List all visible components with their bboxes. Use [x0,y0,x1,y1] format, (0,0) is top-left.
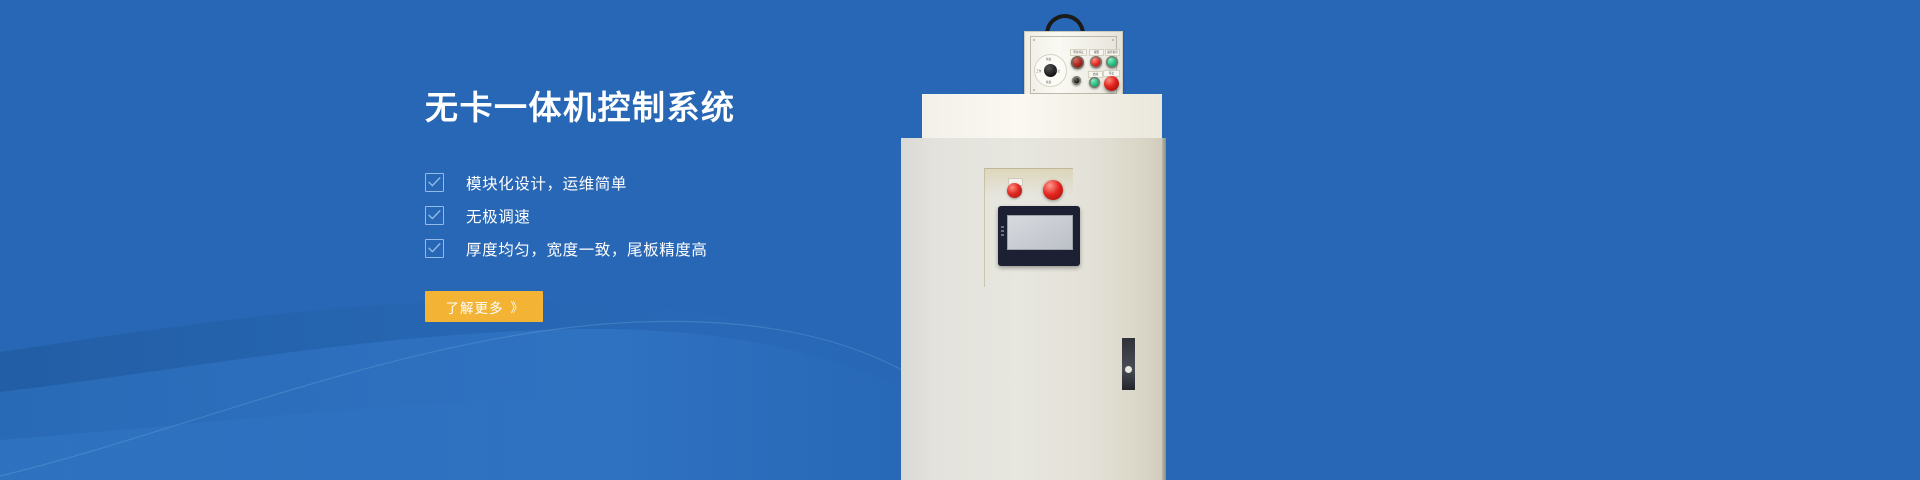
wave-band-soft [0,398,960,480]
list-item: 模块化设计，运维简单 [425,166,985,199]
panel-screw [1033,89,1035,91]
wave-band-light [0,329,1040,480]
rotary-selector-switch[interactable]: 快进 工作 停止 快退 [1034,54,1067,87]
selector-label-right: 停止 [1055,69,1060,73]
list-item: 厚度均匀，宽度一致，尾板精度高 [425,232,985,265]
hmi-status-leds-icon [1001,226,1004,238]
feature-label: 厚度均匀，宽度一致，尾板精度高 [466,238,708,260]
panel-button-2[interactable] [1090,56,1102,68]
learn-more-button[interactable]: 了解更多 》 [425,291,543,322]
panel-screw [1033,39,1035,41]
selector-label-bottom: 快退 [1046,80,1051,84]
panel-button-6[interactable] [1104,76,1119,91]
list-item: 无极调速 [425,199,985,232]
feature-label: 模块化设计，运维简单 [466,172,627,194]
checkbox-checked-icon [425,173,444,192]
panel-button-3-tag: 运行指示 [1105,49,1120,56]
cabinet-indicator-lamp[interactable] [1007,183,1022,198]
panel-button-4[interactable] [1072,76,1081,85]
hmi-screen[interactable] [1007,215,1073,250]
chevron-right-double-icon: 》 [510,297,522,316]
panel-button-2-tag: 报警 [1089,49,1104,56]
cabinet-door-lock[interactable] [1122,338,1135,390]
panel-screw [1112,39,1114,41]
checkbox-checked-icon [425,239,444,258]
top-control-panel: 快进 工作 停止 快退 紧急停止 报警 运行指示 启动 停止 [1024,31,1123,99]
cabinet-lock-keyhole-icon [1125,366,1132,373]
selector-label-top: 快进 [1046,57,1051,61]
banner-content: 无卡一体机控制系统 模块化设计，运维简单 无极调速 [425,86,985,322]
cabinet-door-edge [1162,138,1166,480]
hmi-touch-panel[interactable] [998,206,1080,266]
selector-label-left: 工作 [1036,69,1041,73]
feature-list: 模块化设计，运维简单 无极调速 厚度均匀，宽度一致，尾板精度高 [425,166,985,265]
cabinet-stop-button[interactable] [1043,180,1063,200]
learn-more-label: 了解更多 [445,297,503,317]
hero-banner: 快进 工作 停止 快退 紧急停止 报警 运行指示 启动 停止 [0,0,1920,480]
checkbox-checked-icon [425,206,444,225]
feature-label: 无极调速 [466,205,530,227]
panel-button-1[interactable] [1071,56,1084,69]
panel-button-3[interactable] [1106,56,1118,68]
panel-button-1-tag: 紧急停止 [1070,49,1087,56]
page-title: 无卡一体机控制系统 [425,86,985,130]
wave-outline [0,321,1020,480]
panel-button-5[interactable] [1089,77,1100,88]
